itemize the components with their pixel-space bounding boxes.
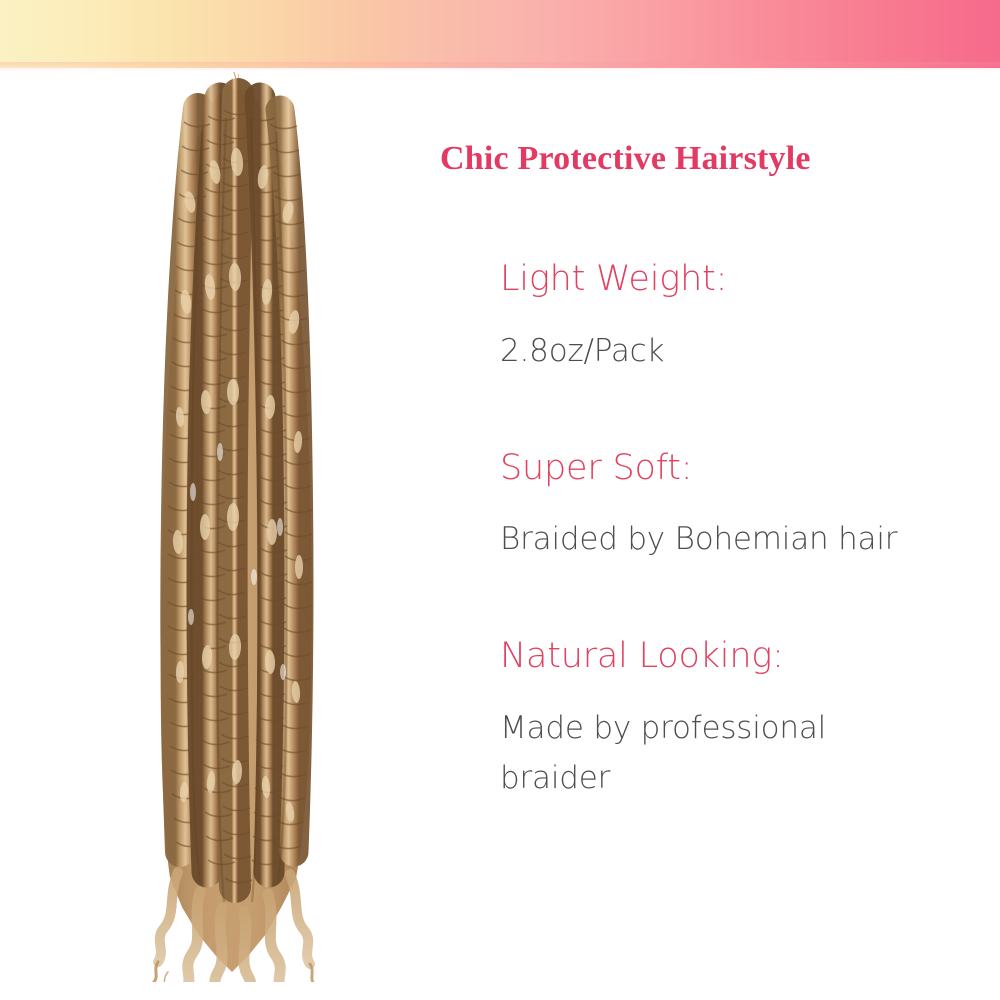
hair-bundle-illustration: [120, 72, 350, 982]
product-photo: [120, 72, 350, 982]
feature-text-column: Chic Protective Hairstyle Light Weight: …: [440, 140, 950, 803]
feature-heading-super-soft: Super Soft:: [500, 448, 950, 488]
infographic-page: Chic Protective Hairstyle Light Weight: …: [0, 0, 1000, 1000]
feature-body-light-weight: 2.8oz/Pack: [500, 326, 920, 376]
feature-block-super-soft: Super Soft: Braided by Bohemian hair: [500, 448, 950, 564]
feature-block-light-weight: Light Weight: 2.8oz/Pack: [500, 259, 950, 375]
top-gradient-banner: [0, 0, 1000, 68]
feature-body-super-soft: Braided by Bohemian hair: [500, 514, 920, 564]
page-title: Chic Protective Hairstyle: [440, 140, 950, 177]
feature-block-natural-looking: Natural Looking: Made by professional br…: [500, 636, 950, 803]
feature-heading-light-weight: Light Weight:: [500, 259, 950, 299]
feature-body-natural-looking: Made by professional braider: [500, 703, 920, 803]
feature-heading-natural-looking: Natural Looking:: [500, 636, 950, 676]
